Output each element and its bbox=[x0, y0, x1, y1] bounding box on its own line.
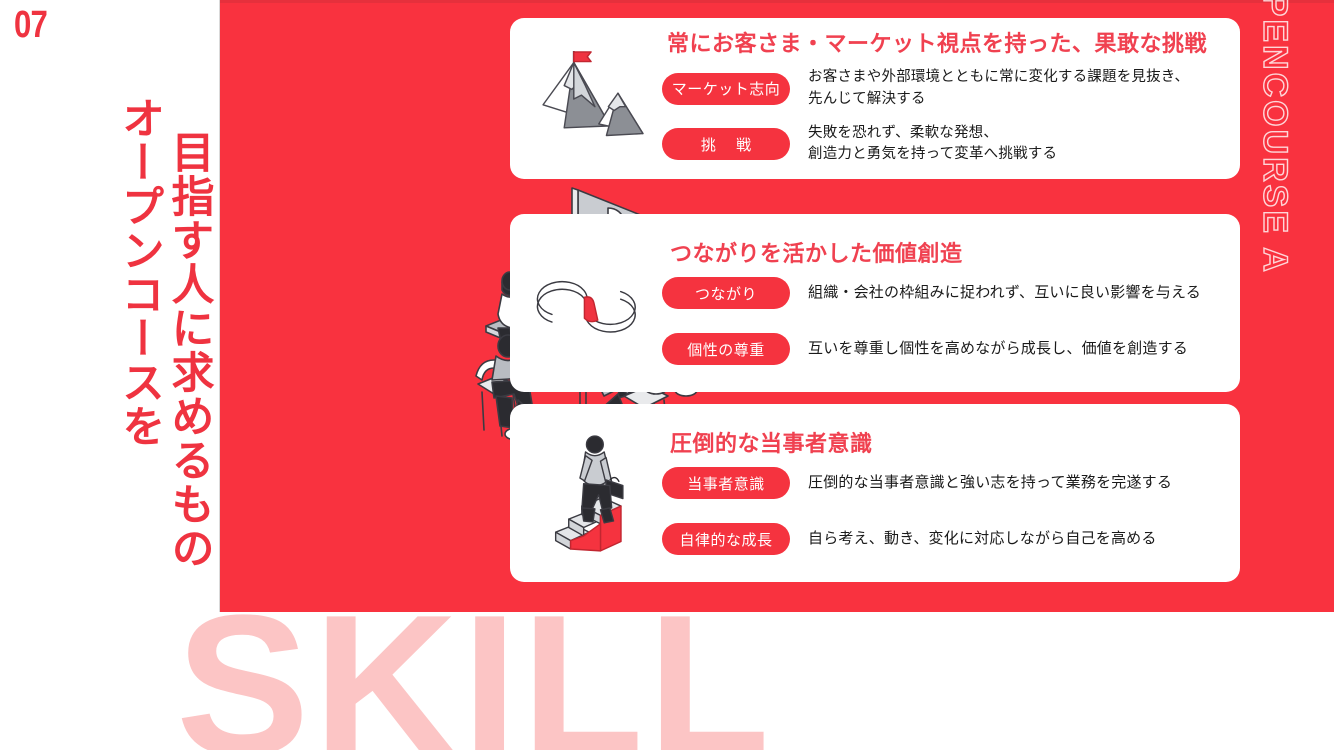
card-row: 挑 戦 失敗を恐れず、柔軟な発想、 創造力と勇気を持って変革へ挑戦する bbox=[662, 123, 1222, 167]
slide-root: SKILL OPENCOURSE A bbox=[0, 0, 1334, 750]
card-row: つながり 組織・会社の枠組みに捉われず、互いに良い影響を与える bbox=[662, 277, 1222, 309]
card-title: 圧倒的な当事者意識 bbox=[662, 431, 1222, 457]
vertical-title: オープンコースを 目指す人に求めるもの bbox=[116, 96, 211, 596]
card-rows: マーケット志向 お客さまや外部環境とともに常に変化する課題を見抜き、 先んじて解… bbox=[662, 67, 1222, 166]
card-row: 個性の尊重 互いを尊重し個性を高めながら成長し、価値を創造する bbox=[662, 333, 1222, 365]
pill-individuality-respect[interactable]: 個性の尊重 bbox=[662, 333, 790, 365]
pill-connection[interactable]: つながり bbox=[662, 277, 790, 309]
page-number: 07 bbox=[14, 6, 47, 44]
card-row: 自律的な成長 自ら考え、動き、変化に対応しながら自己を高める bbox=[662, 523, 1222, 555]
vertical-title-col-1: オープンコースを bbox=[116, 96, 162, 448]
panel-top-edge bbox=[220, 0, 1334, 3]
card-ownership[interactable]: 圧倒的な当事者意識 当事者意識 圧倒的な当事者意識と強い志を持って業務を完遂する… bbox=[510, 404, 1240, 582]
side-brand-text: OPENCOURSE A bbox=[1255, 0, 1294, 275]
card-body: 常にお客さま・マーケット視点を持った、果敢な挑戦 マーケット志向 お客さまや外部… bbox=[658, 31, 1222, 166]
vertical-title-col-2: 目指す人に求めるもの bbox=[165, 130, 211, 570]
stairs-climbing-person-icon bbox=[528, 427, 658, 559]
row-description: 互いを尊重し個性を高めながら成長し、価値を創造する bbox=[808, 338, 1188, 361]
row-description: お客さまや外部環境とともに常に変化する課題を見抜き、 先んじて解決する bbox=[808, 67, 1189, 111]
pill-ownership[interactable]: 当事者意識 bbox=[662, 467, 790, 499]
pill-market-oriented[interactable]: マーケット志向 bbox=[662, 73, 790, 105]
card-rows: つながり 組織・会社の枠組みに捉われず、互いに良い影響を与える 個性の尊重 互い… bbox=[662, 277, 1222, 365]
card-row: マーケット志向 お客さまや外部環境とともに常に変化する課題を見抜き、 先んじて解… bbox=[662, 67, 1222, 111]
card-body: 圧倒的な当事者意識 当事者意識 圧倒的な当事者意識と強い志を持って業務を完遂する… bbox=[658, 431, 1222, 555]
card-body: つながりを活かした価値創造 つながり 組織・会社の枠組みに捉われず、互いに良い影… bbox=[658, 241, 1222, 365]
infinity-loop-icon bbox=[528, 255, 658, 351]
pill-challenge[interactable]: 挑 戦 bbox=[662, 128, 790, 160]
row-description: 圧倒的な当事者意識と強い志を持って業務を完遂する bbox=[808, 472, 1172, 495]
left-rail: 07 オープンコースを 目指す人に求めるもの bbox=[0, 0, 220, 612]
card-market-challenge[interactable]: 常にお客さま・マーケット視点を持った、果敢な挑戦 マーケット志向 お客さまや外部… bbox=[510, 18, 1240, 179]
card-row: 当事者意識 圧倒的な当事者意識と強い志を持って業務を完遂する bbox=[662, 467, 1222, 499]
cards-container: 常にお客さま・マーケット視点を持った、果敢な挑戦 マーケット志向 お客さまや外部… bbox=[510, 18, 1240, 582]
row-description: 組織・会社の枠組みに捉われず、互いに良い影響を与える bbox=[808, 282, 1201, 305]
card-rows: 当事者意識 圧倒的な当事者意識と強い志を持って業務を完遂する 自律的な成長 自ら… bbox=[662, 467, 1222, 555]
card-connection-value[interactable]: つながりを活かした価値創造 つながり 組織・会社の枠組みに捉われず、互いに良い影… bbox=[510, 214, 1240, 392]
card-title: 常にお客さま・マーケット視点を持った、果敢な挑戦 bbox=[662, 31, 1222, 57]
pill-autonomous-growth[interactable]: 自律的な成長 bbox=[662, 523, 790, 555]
card-title: つながりを活かした価値創造 bbox=[662, 241, 1222, 267]
row-description: 失敗を恐れず、柔軟な発想、 創造力と勇気を持って変革へ挑戦する bbox=[808, 123, 1057, 167]
row-description: 自ら考え、動き、変化に対応しながら自己を高める bbox=[808, 528, 1157, 551]
mountain-flag-icon bbox=[528, 51, 658, 147]
